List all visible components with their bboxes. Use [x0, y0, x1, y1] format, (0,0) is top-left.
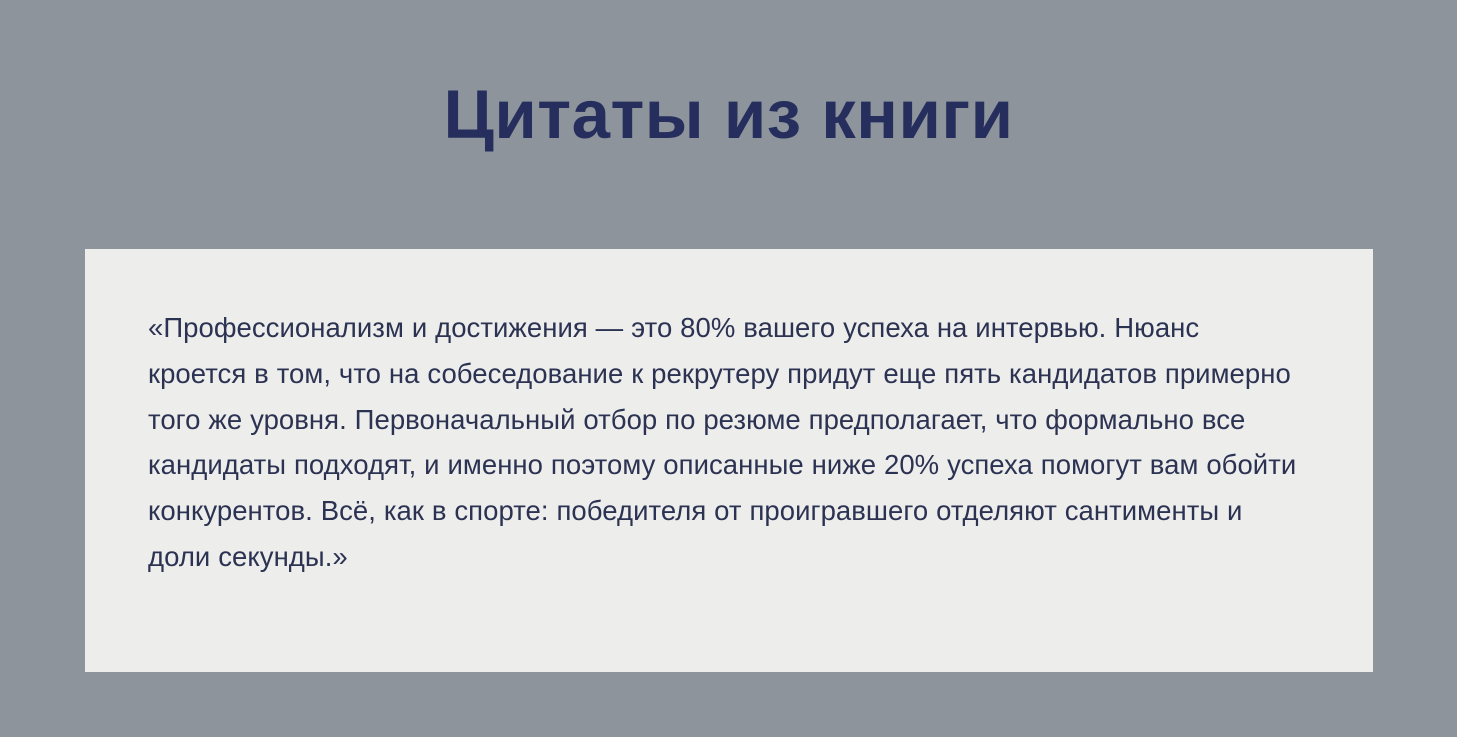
quote-card: «Профессионализм и достижения — это 80% …	[85, 249, 1373, 672]
quote-text: «Профессионализм и достижения — это 80% …	[148, 305, 1298, 580]
slide-root: Цитаты из книги «Профессионализм и дости…	[0, 0, 1457, 737]
page-title: Цитаты из книги	[0, 76, 1457, 154]
